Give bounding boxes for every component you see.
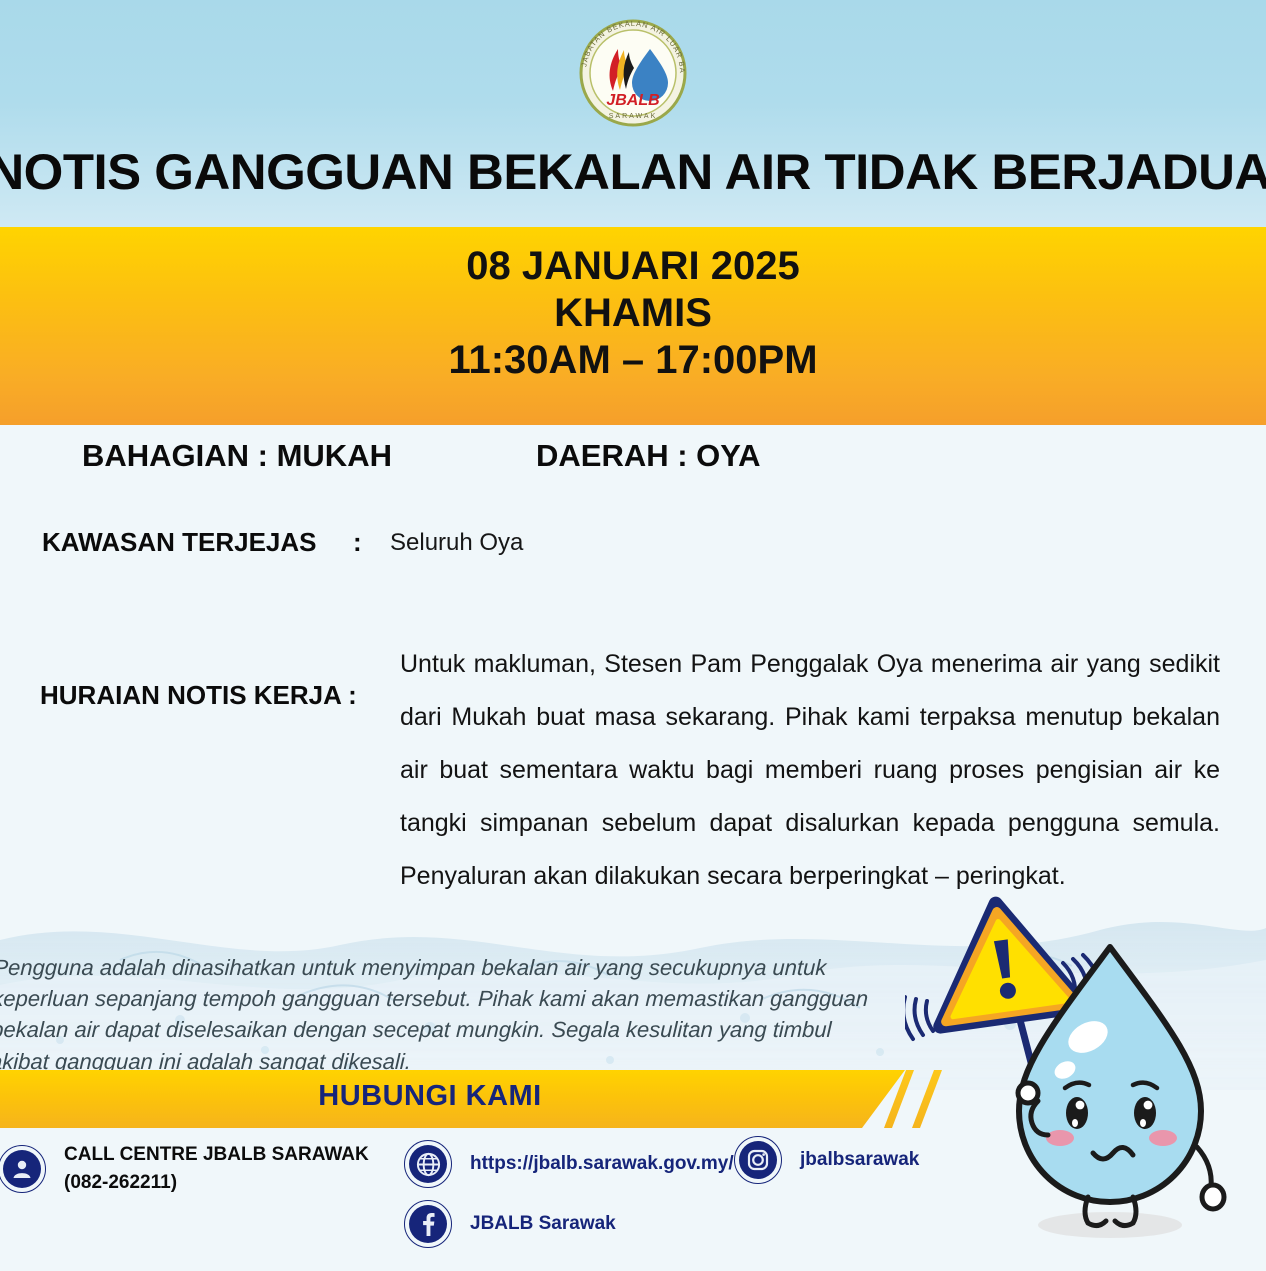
- instagram-icon: [734, 1136, 782, 1184]
- contact-facebook[interactable]: JBALB Sarawak: [404, 1200, 616, 1248]
- page-title: NOTIS GANGGUAN BEKALAN AIR TIDAK BERJADU…: [0, 143, 1266, 201]
- call-centre-line2: (082-262211): [64, 1169, 369, 1197]
- facebook-icon: [404, 1200, 452, 1248]
- svg-text:SARAWAK: SARAWAK: [609, 113, 658, 120]
- jbalb-logo-icon: JBALB SARAWAK JABATAN BEKALAN AIR LUAR B…: [566, 19, 700, 127]
- contact-website[interactable]: https://jbalb.sarawak.gov.my/: [404, 1140, 734, 1188]
- kawasan-terjejas-value: Seluruh Oya: [390, 529, 523, 557]
- globe-icon: [404, 1140, 452, 1188]
- notice-poster: JBALB SARAWAK JABATAN BEKALAN AIR LUAR B…: [0, 0, 1266, 1271]
- call-centre-line1: CALL CENTRE JBALB SARAWAK: [64, 1141, 369, 1169]
- kawasan-terjejas-label: KAWASAN TERJEJAS: [42, 527, 317, 558]
- kawasan-colon: :: [353, 527, 362, 558]
- contact-instagram[interactable]: jbalbsarawak: [734, 1136, 919, 1184]
- svg-text:JBALB: JBALB: [606, 92, 659, 109]
- website-url[interactable]: https://jbalb.sarawak.gov.my/: [470, 1150, 734, 1178]
- date-band: 08 JANUARI 2025 KHAMIS 11:30AM – 17:00PM: [0, 227, 1266, 425]
- instagram-handle[interactable]: jbalbsarawak: [800, 1146, 919, 1174]
- huraian-notis-kerja-body: Untuk makluman, Stesen Pam Penggalak Oya…: [400, 638, 1220, 903]
- bahagian-label: BAHAGIAN : MUKAH: [82, 438, 392, 474]
- notice-date: 08 JANUARI 2025: [0, 243, 1266, 290]
- person-icon: [0, 1145, 46, 1193]
- notice-day: KHAMIS: [0, 290, 1266, 337]
- notice-time: 11:30AM – 17:00PM: [0, 337, 1266, 384]
- huraian-notis-kerja-label: HURAIAN NOTIS KERJA :: [40, 680, 357, 711]
- location-info: BAHAGIAN : MUKAH DAERAH : OYA KAWASAN TE…: [0, 425, 1266, 545]
- daerah-label: DAERAH : OYA: [536, 438, 761, 474]
- hubungi-kami-label: HUBUNGI KAMI: [0, 1080, 860, 1113]
- facebook-page[interactable]: JBALB Sarawak: [470, 1210, 616, 1238]
- water-droplet-mascot: [905, 885, 1266, 1271]
- contact-call-centre[interactable]: CALL CENTRE JBALB SARAWAK (082-262211): [0, 1141, 369, 1196]
- poster-header: JBALB SARAWAK JABATAN BEKALAN AIR LUAR B…: [0, 0, 1266, 227]
- advisory-text: Pengguna adalah dinasihatkan untuk menyi…: [0, 952, 894, 1077]
